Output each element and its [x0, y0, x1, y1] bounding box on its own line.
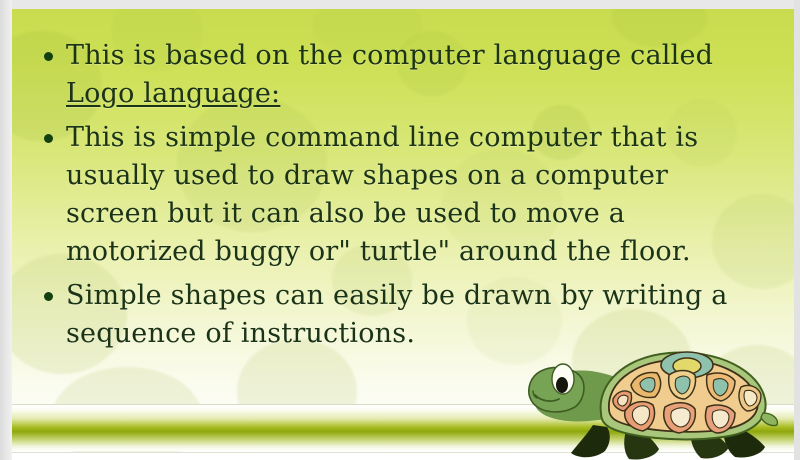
bullet-list: This is based on the computer language c…	[36, 37, 756, 353]
list-item: This is based on the computer language c…	[36, 37, 756, 113]
slide-screen: This is based on the computer language c…	[0, 0, 800, 460]
bullet-2-line-3: screen but it can also be used to move a	[66, 195, 756, 233]
window-frame-left	[0, 0, 12, 460]
bullet-2-line-2: usually used to draw shapes on a compute…	[66, 157, 756, 195]
bullet-1-line-2: Logo language:	[66, 75, 756, 113]
bullet-3-line-1: Simple shapes can easily be drawn by wri…	[66, 280, 728, 311]
slide-surface: This is based on the computer language c…	[12, 9, 794, 460]
window-frame-top	[0, 0, 800, 9]
window-frame-right	[794, 0, 800, 460]
bullet-2-line-1: This is simple command line computer tha…	[66, 122, 698, 153]
bullet-1-line-1: This is based on the computer language c…	[66, 40, 713, 71]
bullet-2-line-4: motorized buggy or" turtle" around the f…	[66, 233, 756, 271]
list-item: This is simple command line computer tha…	[36, 119, 756, 271]
turtle-icon	[527, 341, 794, 460]
slide-body: This is based on the computer language c…	[36, 37, 756, 359]
